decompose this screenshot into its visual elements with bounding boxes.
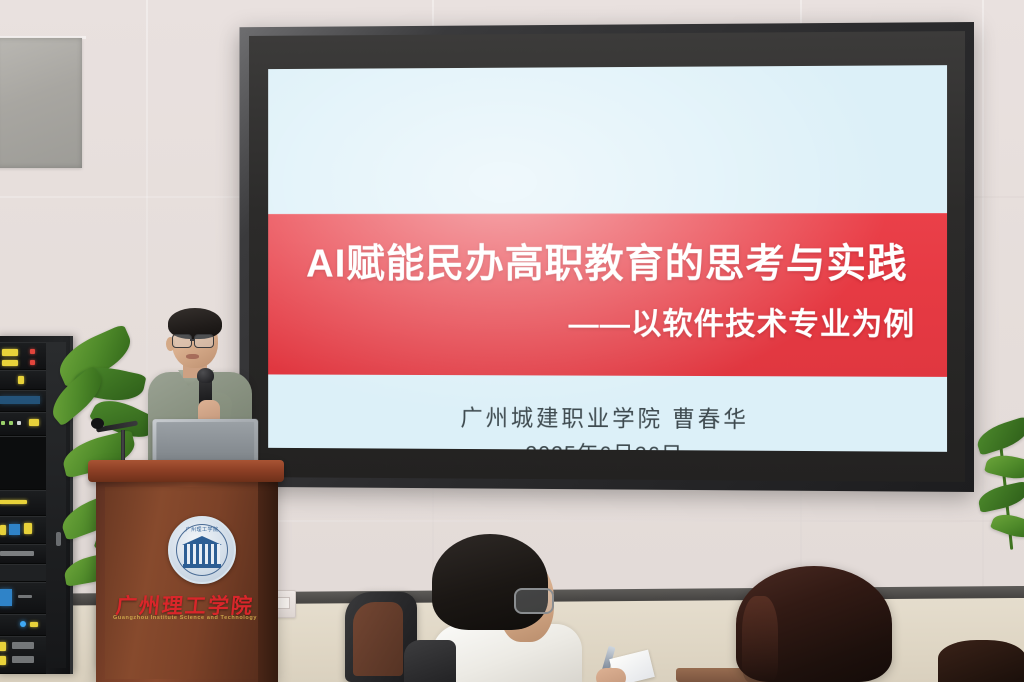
office-chair-armrest: [404, 640, 456, 682]
microphone-head: [197, 368, 214, 383]
presenter-mouth: [186, 354, 199, 359]
rack-unit: [0, 582, 46, 614]
rack-unit: [0, 370, 46, 390]
crest-building: [184, 544, 220, 564]
av-equipment-rack: [0, 336, 73, 674]
rack-unit: [0, 614, 46, 636]
eyeglasses-icon: [194, 334, 214, 348]
slide-title: AI赋能民办高职教育的思考与实践: [268, 231, 947, 289]
rack-unit: [0, 390, 46, 412]
rack-handle: [56, 532, 61, 546]
university-crest: 广州理工学院: [168, 516, 236, 584]
audience-hand: [596, 668, 626, 682]
eyeglasses-icon: [172, 334, 192, 348]
rack-unit: [0, 544, 46, 564]
podium-front-face: [105, 487, 265, 679]
rack-unit: [0, 564, 46, 582]
rack-unit: [0, 412, 46, 436]
audience-hair: [432, 534, 548, 630]
recessed-wall-panel: [0, 38, 82, 168]
rack-unit: [0, 436, 46, 490]
podium-side-edge: [258, 482, 278, 682]
projection-screen: AI赋能民办高职教育的思考与实践 ——以软件技术专业为例 广州城建职业学院 曹春…: [239, 22, 974, 492]
presentation-slide: AI赋能民办高职教育的思考与实践 ——以软件技术专业为例 广州城建职业学院 曹春…: [268, 65, 947, 452]
slide-affiliation: 广州城建职业学院 曹春华: [268, 398, 947, 435]
wall-seam: [982, 0, 984, 682]
podium-top-rail: [88, 460, 284, 482]
mic-stand-head: [91, 418, 104, 429]
rack-unit: [0, 516, 46, 544]
audience-hair: [938, 640, 1024, 682]
screen-bezel: AI赋能民办高职教育的思考与实践 ——以软件技术专业为例 广州城建职业学院 曹春…: [249, 31, 965, 482]
crest-arc-text: 广州理工学院: [180, 526, 224, 536]
conference-room-scene: AI赋能民办高职教育的思考与实践 ——以软件技术专业为例 广州城建职业学院 曹春…: [0, 0, 1024, 682]
rack-unit: [0, 636, 46, 674]
crest-base: [183, 564, 221, 568]
podium-name-en: Guangzhou Institute Science and Technolo…: [110, 615, 260, 621]
office-chair-back: [353, 602, 403, 676]
slide-subtitle: ——以软件技术专业为例: [568, 298, 915, 343]
eyeglasses-icon: [514, 588, 554, 614]
laptop-screen: [156, 422, 254, 463]
eyeglasses-bridge: [190, 339, 195, 341]
rack-unit: [0, 490, 46, 516]
slide-date: 2025年6月26日: [268, 435, 947, 452]
rack-unit: [0, 342, 46, 370]
audience-hair-strand: [742, 596, 778, 682]
